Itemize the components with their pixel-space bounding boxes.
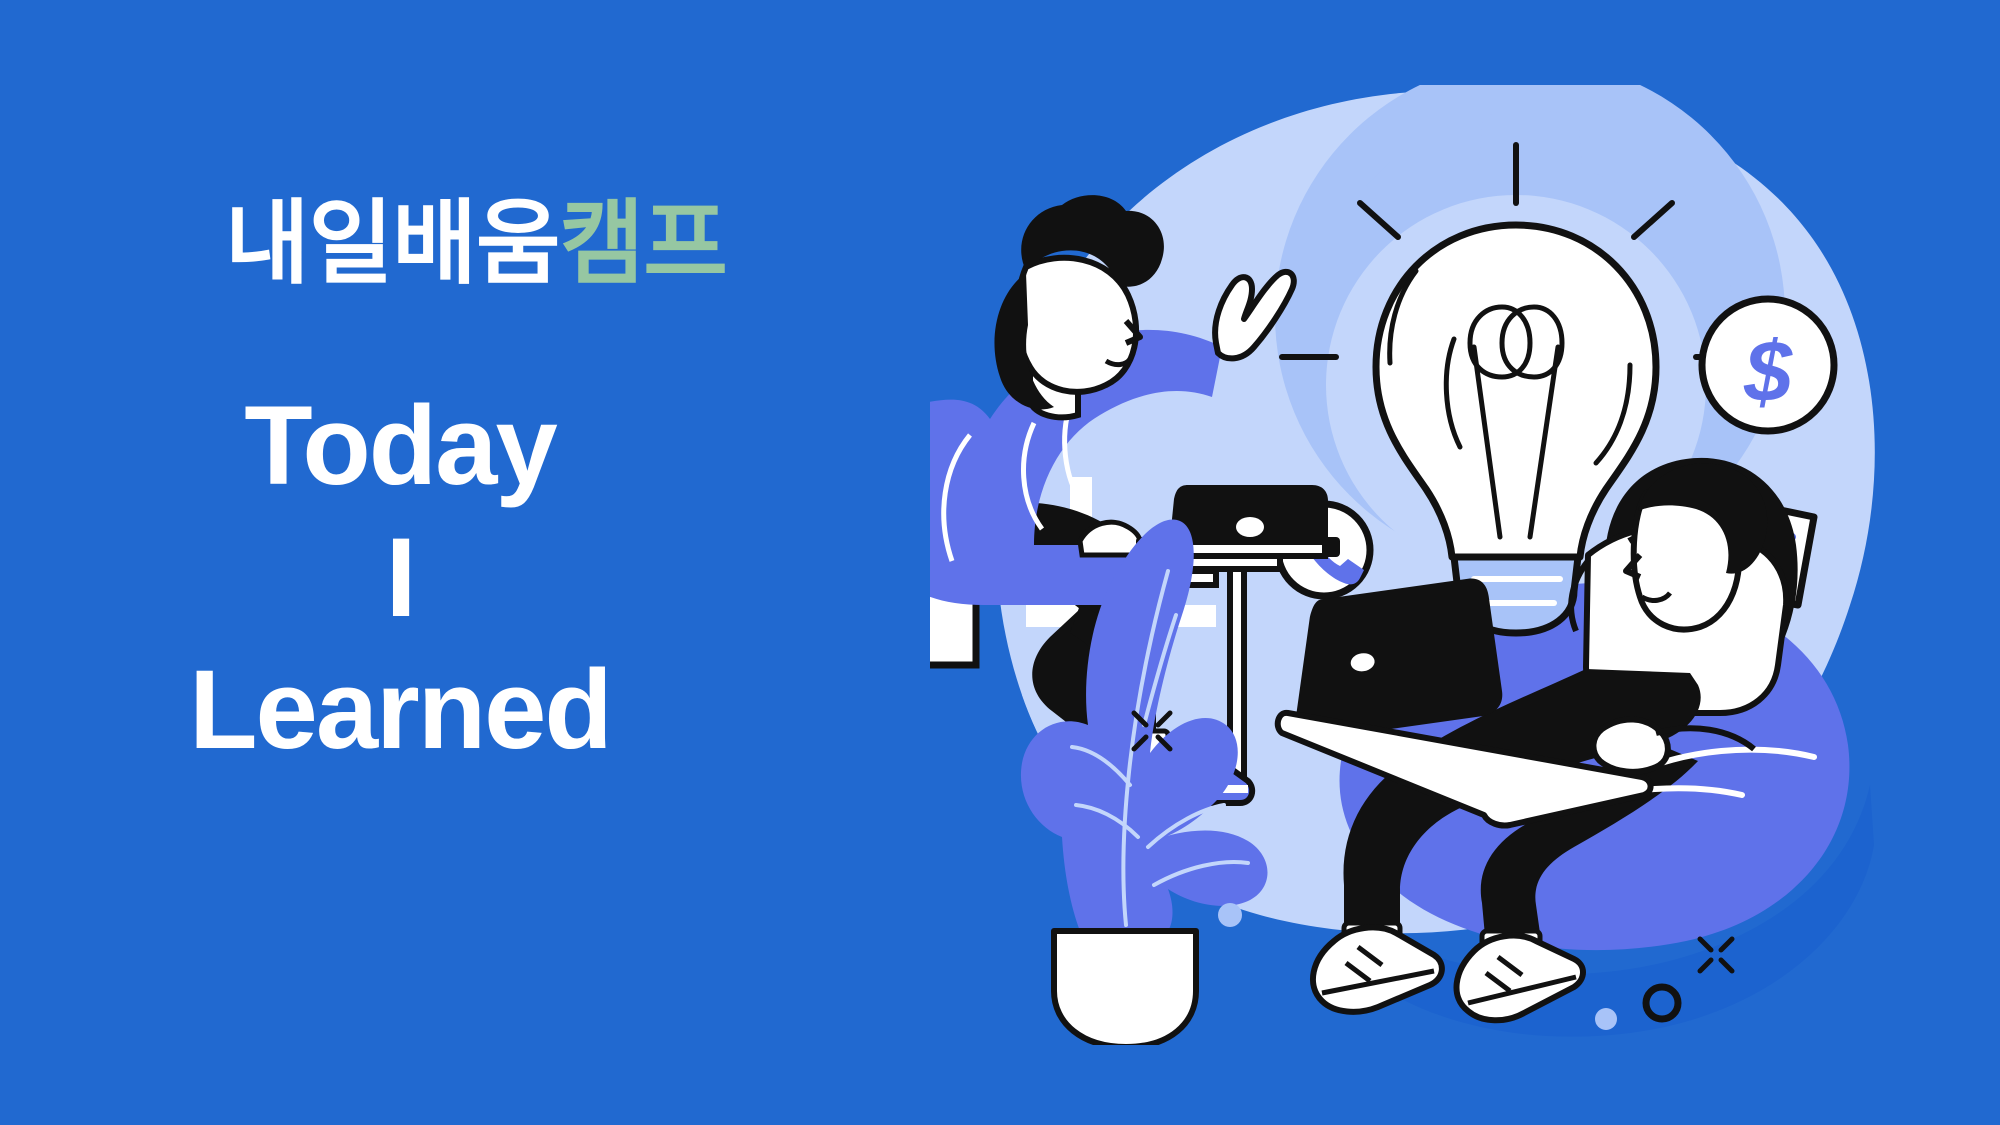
headline-line-3: Learned	[0, 644, 800, 776]
text-column: 내일배움캠프 Today I Learned	[0, 0, 1000, 1125]
headline-line-1: Today	[0, 380, 800, 512]
brand-logo-green-part: 캠프	[560, 193, 727, 295]
person2-hand	[1593, 719, 1667, 771]
page-title: Today I Learned	[0, 380, 800, 776]
slide-canvas: 내일배움캠프 Today I Learned	[0, 0, 2000, 1125]
svg-text:$: $	[1743, 324, 1793, 420]
hero-illustration: $	[930, 85, 1920, 1045]
brand-logo-white-part: 내일배움	[225, 193, 560, 295]
dollar-badge-icon: $	[1702, 299, 1834, 431]
headline-line-2: I	[0, 512, 800, 644]
plant-pot	[1054, 931, 1196, 1045]
brand-logo: 내일배움캠프	[225, 198, 727, 290]
